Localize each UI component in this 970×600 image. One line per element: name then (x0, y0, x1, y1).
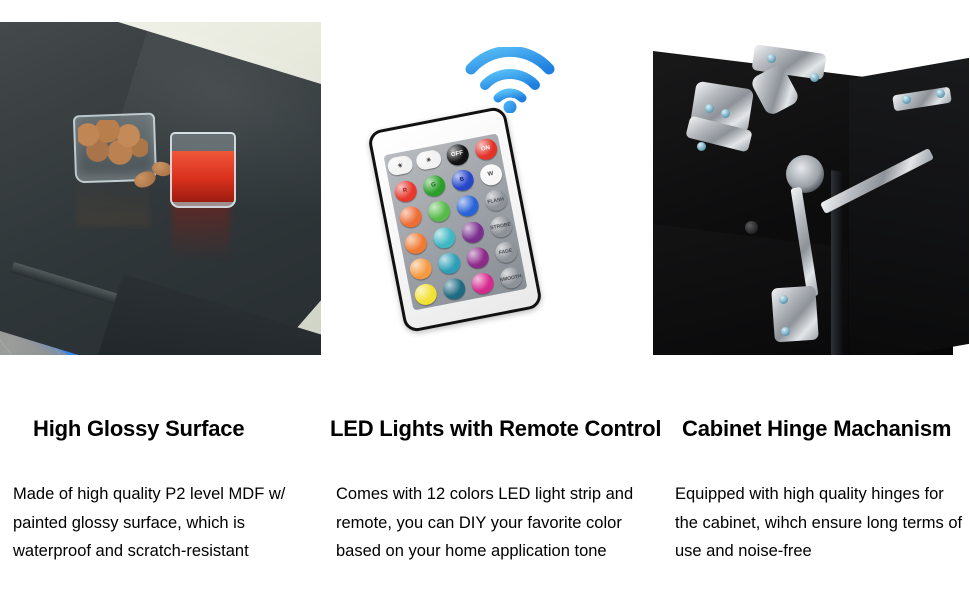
purple-button-key[interactable] (459, 220, 485, 245)
dark-orange-button-key[interactable] (402, 231, 428, 256)
brightness-down-button-key[interactable]: ☀ (415, 149, 443, 171)
hinge-screw-icon (721, 109, 730, 118)
dark-teal-button-key[interactable] (441, 277, 467, 302)
hinge-screw-icon (810, 73, 819, 82)
feature-body-led-remote: Comes with 12 colors LED light strip and… (336, 480, 650, 566)
hinge-screw-icon (767, 54, 776, 63)
stay-screw-icon (902, 95, 911, 104)
nuts-pile-icon (78, 120, 148, 166)
red-button-key[interactable]: R (392, 179, 418, 204)
flash-button-key[interactable]: FLASH (483, 188, 509, 213)
hinge-screw-icon (697, 142, 706, 151)
drink-glass-icon (170, 132, 236, 208)
royal-blue-button-key[interactable] (454, 194, 480, 219)
cabinet-hinge-photo (653, 29, 970, 355)
orange-button-key[interactable] (397, 205, 423, 230)
glossy-cabinet-photo (0, 22, 321, 355)
off-button-key[interactable]: OFF (444, 142, 470, 167)
drink-glass-reflection (172, 200, 230, 260)
smooth-button[interactable]: SMOOTH (494, 263, 527, 294)
yellow-button-key[interactable] (413, 282, 439, 307)
on-button-key[interactable]: ON (473, 137, 499, 162)
feature-title-glossy-surface: High Glossy Surface (33, 416, 244, 442)
cabinet-cam-screw-icon (745, 221, 758, 234)
hinge-screw-icon (705, 104, 714, 113)
stay-screw-icon (936, 89, 945, 98)
wifi-icon (465, 47, 555, 113)
feature-title-led-remote: LED Lights with Remote Control (330, 416, 661, 442)
blue-button-key[interactable]: B (449, 168, 475, 193)
white-button-key[interactable]: W (478, 162, 504, 187)
feature-strip-page: ☀☀OFFONRGBWFLASHSTROBEFADESMOOTH High Gl… (0, 0, 970, 600)
green-button-key[interactable]: G (421, 174, 447, 199)
red-drink (172, 151, 234, 201)
teal-button-key[interactable] (431, 225, 457, 250)
stay-screw-icon (781, 327, 790, 336)
amber-button-key[interactable] (408, 257, 434, 282)
feature-body-glossy-surface: Made of high quality P2 level MDF w/ pai… (13, 480, 323, 566)
remote-control[interactable]: ☀☀OFFONRGBWFLASHSTROBEFADESMOOTH (367, 106, 544, 334)
cabinet-door-panel (653, 224, 848, 355)
cyan-button-key[interactable] (436, 251, 462, 276)
fade-button-key[interactable]: FADE (493, 240, 519, 265)
rgb-remote-photo: ☀☀OFFONRGBWFLASHSTROBEFADESMOOTH (325, 22, 650, 355)
light-green-button-key[interactable] (426, 199, 452, 224)
feature-body-cabinet-hinge: Equipped with high quality hinges for th… (675, 480, 967, 566)
stay-screw-icon (779, 295, 788, 304)
strobe-button-key[interactable]: STROBE (488, 214, 514, 239)
feature-title-cabinet-hinge: Cabinet Hinge Machanism (682, 416, 951, 442)
stay-door-bracket-icon (771, 286, 819, 343)
smooth-button-key[interactable]: SMOOTH (498, 266, 524, 291)
violet-button-key[interactable] (464, 246, 490, 271)
magenta-button-key[interactable] (469, 271, 495, 296)
brightness-up-button-key[interactable]: ☀ (386, 154, 414, 176)
